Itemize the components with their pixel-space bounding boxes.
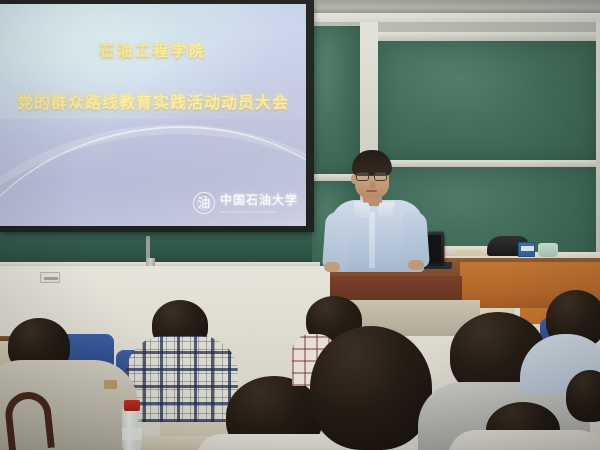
wristwatch (104, 380, 117, 389)
university-logo: 油 中国石油大学 CHINA UNIVERSITY OF PETROLEUM (193, 191, 298, 214)
attendee-bottom-right-body (448, 430, 600, 450)
attendee-head-edge-right (566, 370, 600, 422)
slide-title: 石油工程学院 (0, 40, 306, 61)
speaker-eyebrow-right (374, 169, 386, 171)
university-name-block: 中国石油大学 CHINA UNIVERSITY OF PETROLEUM (220, 191, 298, 214)
projection-screen-frame: 石油工程学院 党的群众路线教育实践活动动员大会 油 中国石油大学 CHINA U… (0, 0, 314, 232)
attendee-head-center-right (310, 326, 432, 450)
chalkboard-panel-top-right (378, 40, 596, 160)
speaker-eyebrow-left (356, 169, 368, 171)
chalkboard-rail-edge (596, 22, 600, 274)
water-bottle-label (122, 428, 142, 440)
glasses-icon (355, 172, 389, 181)
chalkboard-rail-top (378, 32, 596, 41)
glasses-lens-right (374, 172, 387, 181)
mint-cup (538, 243, 558, 257)
slide-subtitle: 党的群众路线教育实践活动动员大会 (0, 89, 306, 113)
speaker-nose (370, 181, 375, 189)
speaker-shirt-placket (369, 212, 375, 268)
projection-screen: 石油工程学院 党的群众路线教育实践活动动员大会 油 中国石油大学 CHINA U… (0, 4, 306, 226)
speaker-presenter (318, 150, 438, 268)
university-name: 中国石油大学 (220, 193, 298, 207)
blue-box (518, 242, 535, 257)
ceiling-trim (300, 0, 600, 14)
university-name-english: CHINA UNIVERSITY OF PETROLEUM (220, 211, 298, 214)
lecture-hall-photo: 石油工程学院 党的群众路线教育实践活动动员大会 油 中国石油大学 CHINA U… (0, 0, 600, 450)
glasses-lens-left (356, 172, 369, 181)
glasses-bridge (369, 175, 374, 176)
water-bottle-cap (124, 400, 140, 411)
attendee-plaid-shirt (126, 336, 238, 422)
wall-outlet-icon (40, 272, 60, 283)
university-seal-icon: 油 (193, 192, 215, 214)
speaker-hand-left (324, 262, 340, 272)
papers-on-podium (455, 250, 481, 256)
speaker-hand-right (408, 260, 424, 270)
chalkboard-lower-left (0, 228, 312, 264)
